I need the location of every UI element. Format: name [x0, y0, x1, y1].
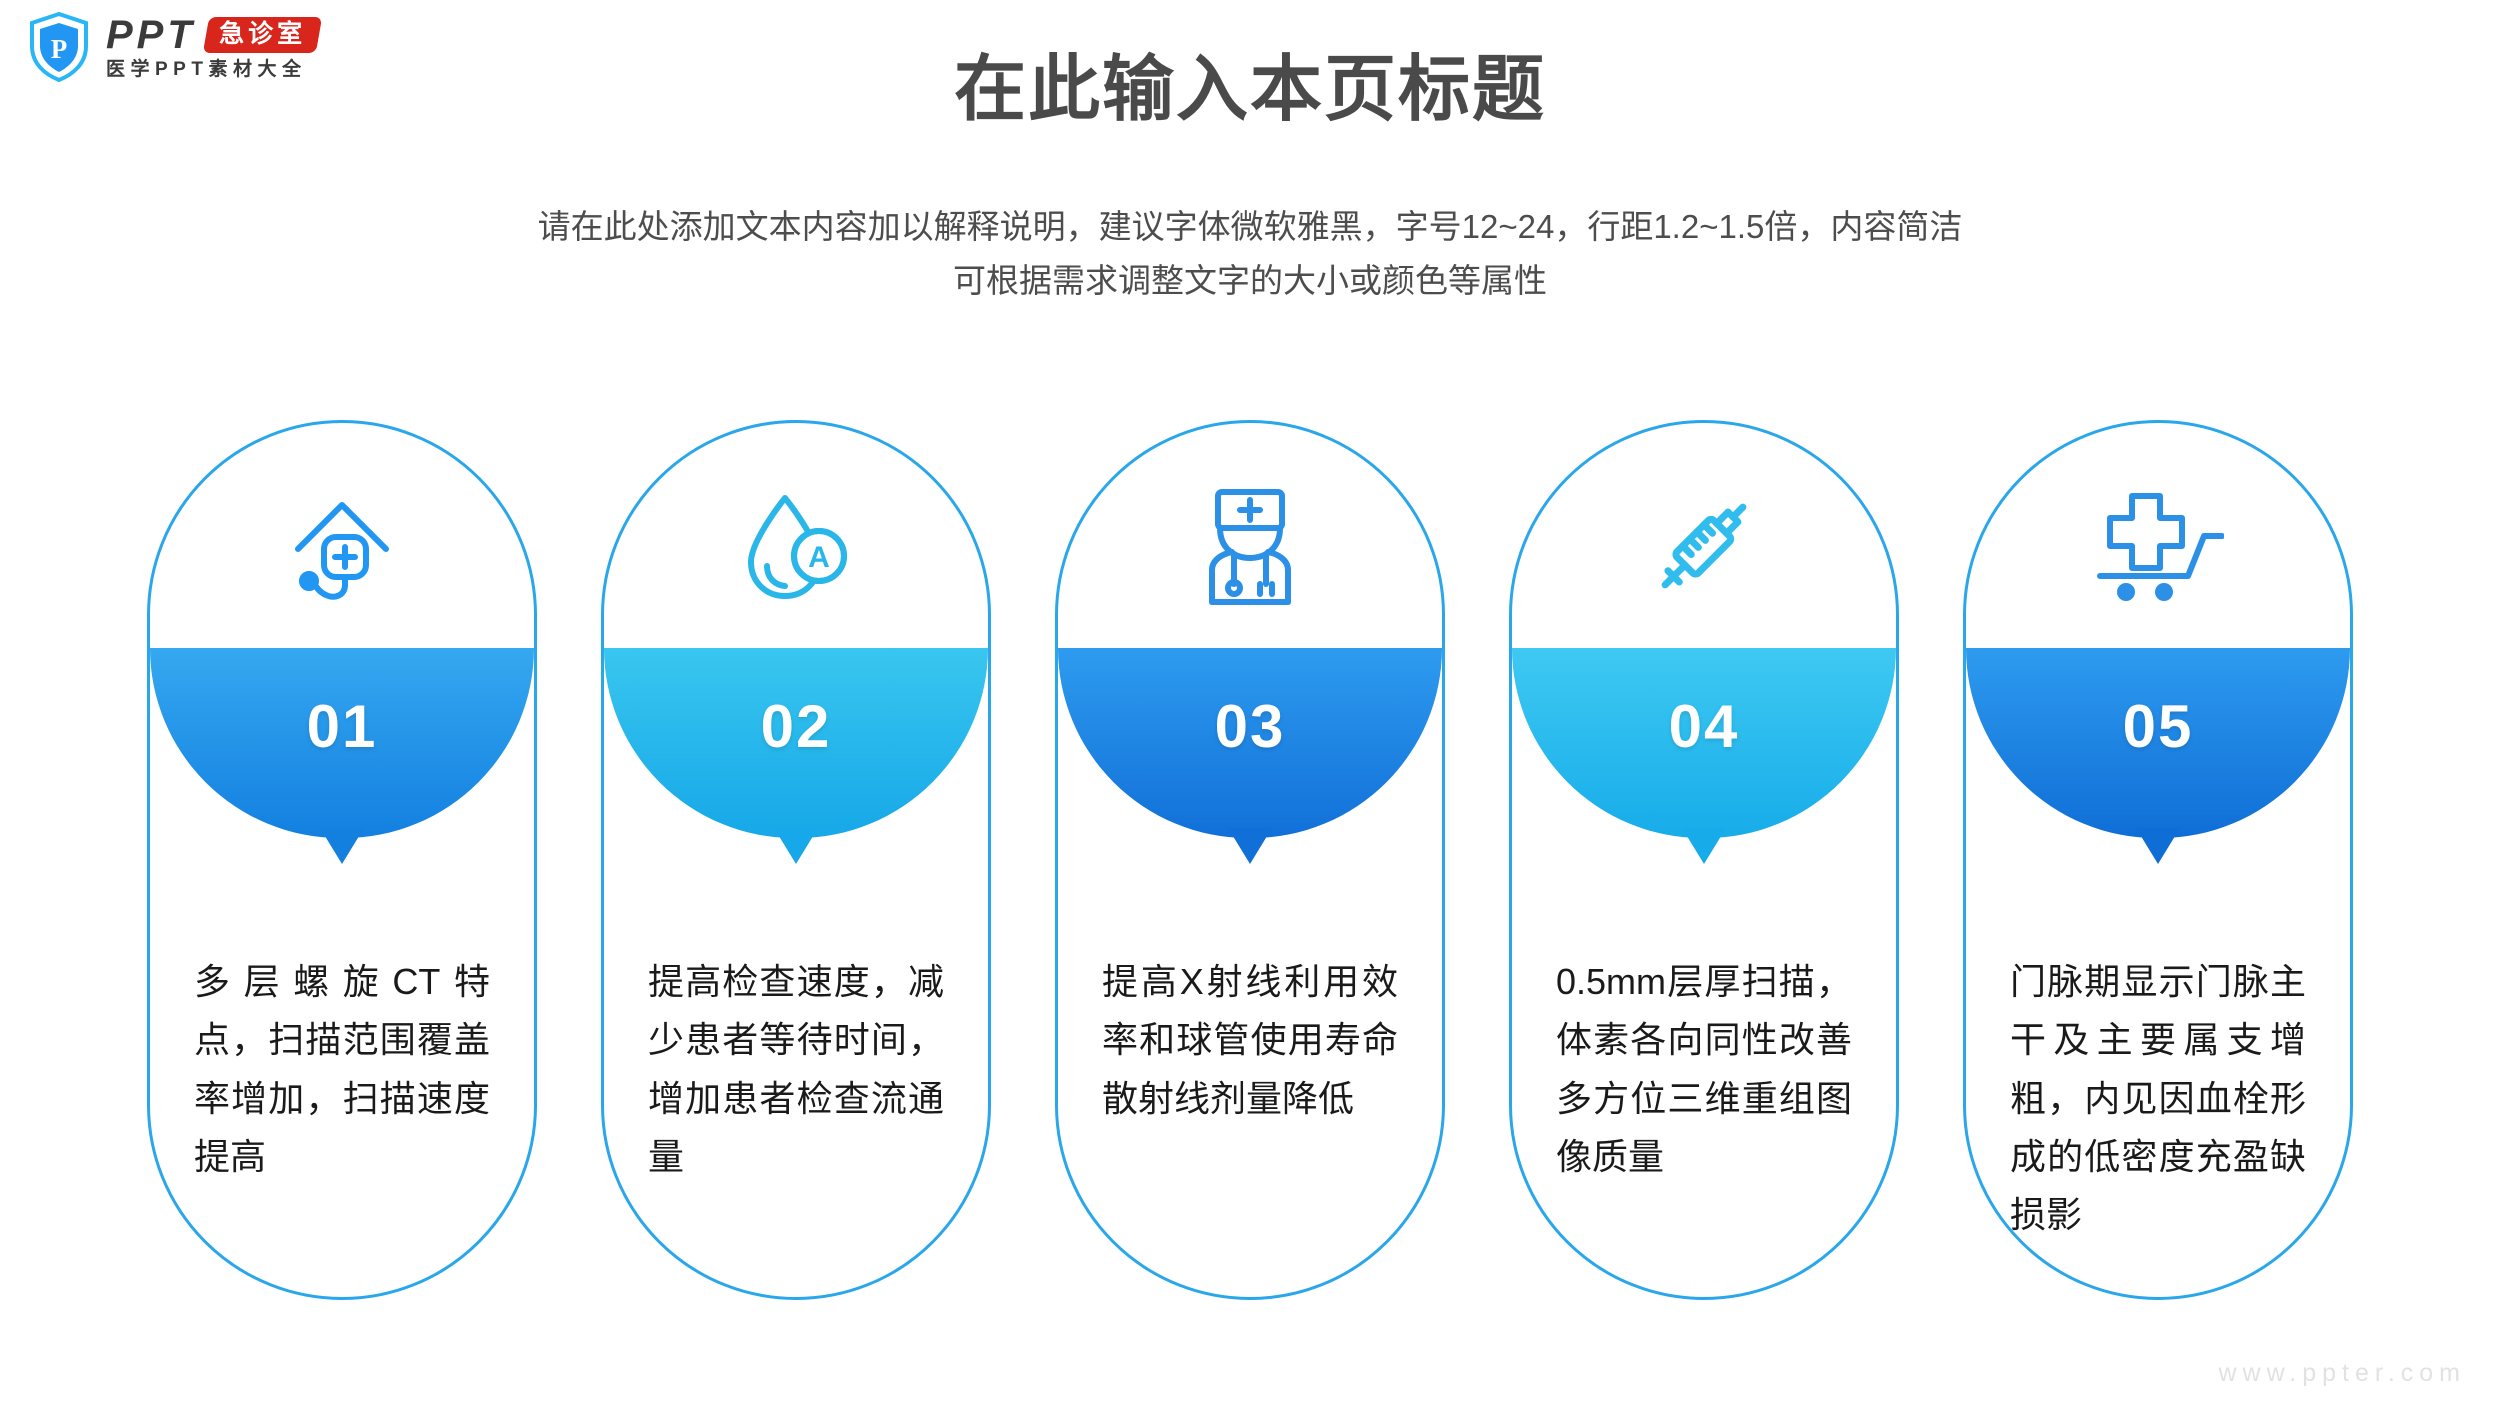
- medical-cart-icon: [1966, 471, 2350, 621]
- card-01-dome-tail: [320, 828, 364, 864]
- slide-root: P PPT 急诊室 医学PPT素材大全 在此输入本页标题 请在此处添加文本内容加…: [0, 0, 2500, 1406]
- card-01-number: 01: [150, 692, 534, 761]
- card-05[interactable]: 05 门脉期显示门脉主干及主要属支增粗，内见因血栓形成的低密度充盈缺损影: [1963, 420, 2353, 1300]
- card-05-number: 05: [1966, 692, 2350, 761]
- blood-drop-type-a-icon: A: [604, 471, 988, 621]
- card-03-number: 03: [1058, 692, 1442, 761]
- card-03-dome-tail: [1228, 828, 1272, 864]
- card-05-number-badge: 05: [1966, 648, 2350, 903]
- card-02-number: 02: [604, 692, 988, 761]
- logo-badge-text: 急诊室: [219, 21, 306, 48]
- footer-watermark: www.ppter.com: [2218, 1359, 2466, 1388]
- card-02-text: 提高检查速度，减少患者等待时间，增加患者检查流通量: [604, 953, 988, 1186]
- card-03-number-badge: 03: [1058, 648, 1442, 903]
- card-03-text: 提高X射线利用效率和球管使用寿命散射线剂量降低: [1058, 953, 1442, 1128]
- page-title: 在此输入本页标题: [0, 45, 2500, 135]
- card-04-text: 0.5mm层厚扫描，体素各向同性改善多方位三维重组图像质量: [1512, 953, 1896, 1186]
- card-01-number-badge: 01: [150, 648, 534, 903]
- page-subtitle: 请在此处添加文本内容加以解释说明，建议字体微软雅黑，字号12~24，行距1.2~…: [0, 200, 2500, 309]
- card-01[interactable]: 01 多层螺旋CT特点，扫描范围覆盖率增加，扫描速度提高: [147, 420, 537, 1300]
- card-04[interactable]: 04 0.5mm层厚扫描，体素各向同性改善多方位三维重组图像质量: [1509, 420, 1899, 1300]
- card-04-number-badge: 04: [1512, 648, 1896, 903]
- card-05-dome-tail: [2136, 828, 2180, 864]
- syringe-icon: [1512, 471, 1896, 621]
- hospital-stethoscope-icon: [150, 471, 534, 621]
- card-03[interactable]: 03 提高X射线利用效率和球管使用寿命散射线剂量降低: [1055, 420, 1445, 1300]
- page-subtitle-line-2: 可根据需求调整文字的大小或颜色等属性: [0, 254, 2500, 308]
- doctor-icon: [1058, 471, 1442, 621]
- card-02[interactable]: A 02 提高检查速度，减少患者等待时间，增加患者检查流通量: [601, 420, 991, 1300]
- card-02-dome-tail: [774, 828, 818, 864]
- svg-text:A: A: [808, 541, 830, 574]
- card-02-number-badge: 02: [604, 648, 988, 903]
- page-subtitle-line-1: 请在此处添加文本内容加以解释说明，建议字体微软雅黑，字号12~24，行距1.2~…: [0, 200, 2500, 254]
- card-04-number: 04: [1512, 692, 1896, 761]
- card-05-text: 门脉期显示门脉主干及主要属支增粗，内见因血栓形成的低密度充盈缺损影: [1966, 953, 2350, 1245]
- card-list: 01 多层螺旋CT特点，扫描范围覆盖率增加，扫描速度提高 A 02 提高检查速: [0, 420, 2500, 1300]
- card-04-dome-tail: [1682, 828, 1726, 864]
- card-01-text: 多层螺旋CT特点，扫描范围覆盖率增加，扫描速度提高: [150, 953, 534, 1186]
